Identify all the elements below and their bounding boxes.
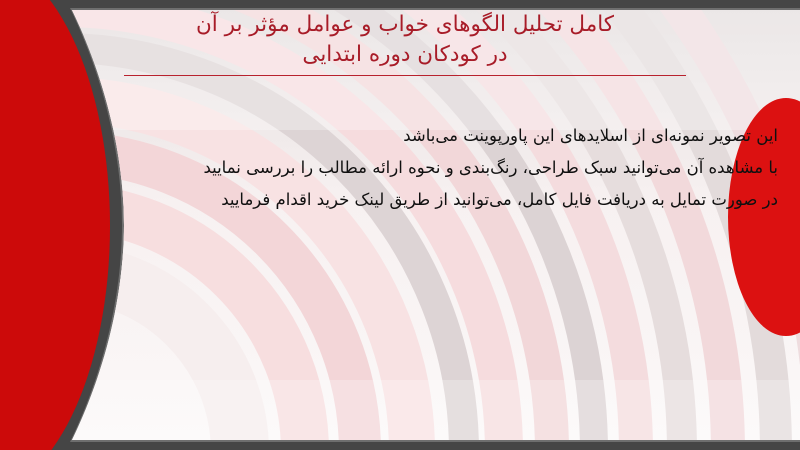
title-line-2: در کودکان دوره ابتدایی bbox=[110, 40, 700, 70]
title-line-1: کامل تحلیل الگوهای خواب و عوامل مؤثر بر … bbox=[110, 10, 700, 40]
title-underline-rule bbox=[124, 75, 686, 76]
body-line-3: در صورت تمایل به دریافت فایل کامل، می‌تو… bbox=[78, 184, 778, 216]
body-line-2: با مشاهده آن می‌توانید سبک طراحی، رنگ‌بن… bbox=[78, 152, 778, 184]
body-line-1: این تصویر نمونه‌ای از اسلایدهای این پاور… bbox=[78, 120, 778, 152]
slide-body: این تصویر نمونه‌ای از اسلایدهای این پاور… bbox=[78, 120, 778, 216]
slide-text-content: کامل تحلیل الگوهای خواب و عوامل مؤثر بر … bbox=[0, 0, 800, 450]
presentation-slide: کامل تحلیل الگوهای خواب و عوامل مؤثر بر … bbox=[0, 0, 800, 450]
slide-title: کامل تحلیل الگوهای خواب و عوامل مؤثر بر … bbox=[110, 10, 700, 76]
